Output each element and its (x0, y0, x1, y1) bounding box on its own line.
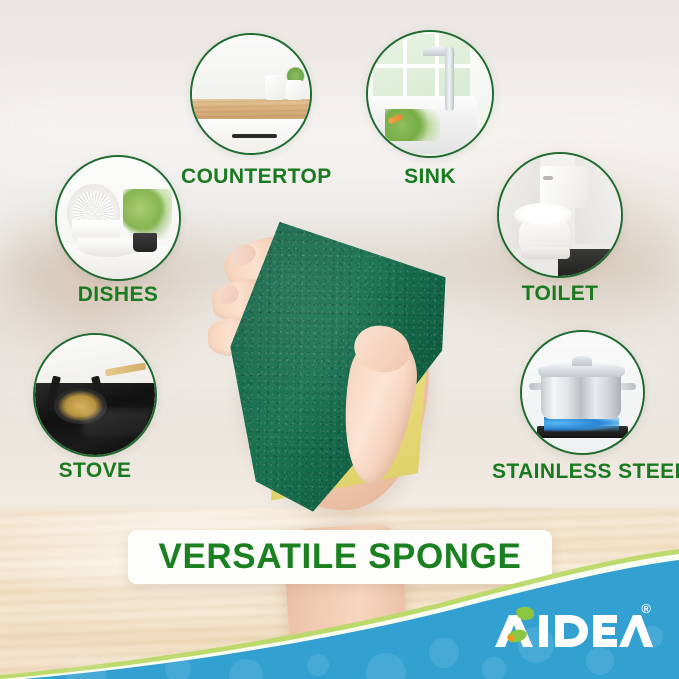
steel-pot-scene-icon (522, 332, 643, 453)
feature-toilet (497, 152, 623, 278)
wave-bubble (429, 638, 459, 668)
toilet-scene-icon (499, 154, 621, 276)
aidea-wordmark (493, 603, 653, 657)
stacked-dishes-scene-icon (57, 157, 179, 279)
product-image-canvas: COUNTERTOP SINK (0, 0, 679, 679)
registered-trademark-symbol: ® (641, 601, 651, 616)
feature-label-stove: STOVE (30, 459, 160, 483)
feature-countertop (190, 33, 312, 155)
feature-sink (366, 30, 494, 158)
stainless-steel-circle (520, 330, 645, 455)
feature-dishes (55, 155, 181, 281)
sink-circle (366, 30, 494, 158)
countertop-scene-icon (192, 35, 310, 153)
feature-label-stainless-steel: STAINLESS STEEL (492, 460, 674, 484)
feature-stainless-steel (520, 330, 645, 455)
wave-bubble (66, 655, 106, 679)
feature-stove (33, 333, 157, 457)
feature-label-toilet: TOILET (494, 282, 626, 306)
stove-circle (33, 333, 157, 457)
feature-label-sink: SINK (366, 165, 494, 189)
toilet-circle (497, 152, 623, 278)
leaf-dot-icon (508, 635, 515, 642)
countertop-circle (190, 33, 312, 155)
gas-stove-scene-icon (35, 335, 155, 455)
brand-logo[interactable]: ® (493, 603, 653, 657)
feature-label-countertop: COUNTERTOP (181, 165, 321, 189)
feature-label-dishes: DISHES (52, 283, 184, 307)
wave-bubble (307, 654, 329, 676)
kitchen-sink-scene-icon (368, 32, 492, 156)
dishes-circle (55, 155, 181, 281)
